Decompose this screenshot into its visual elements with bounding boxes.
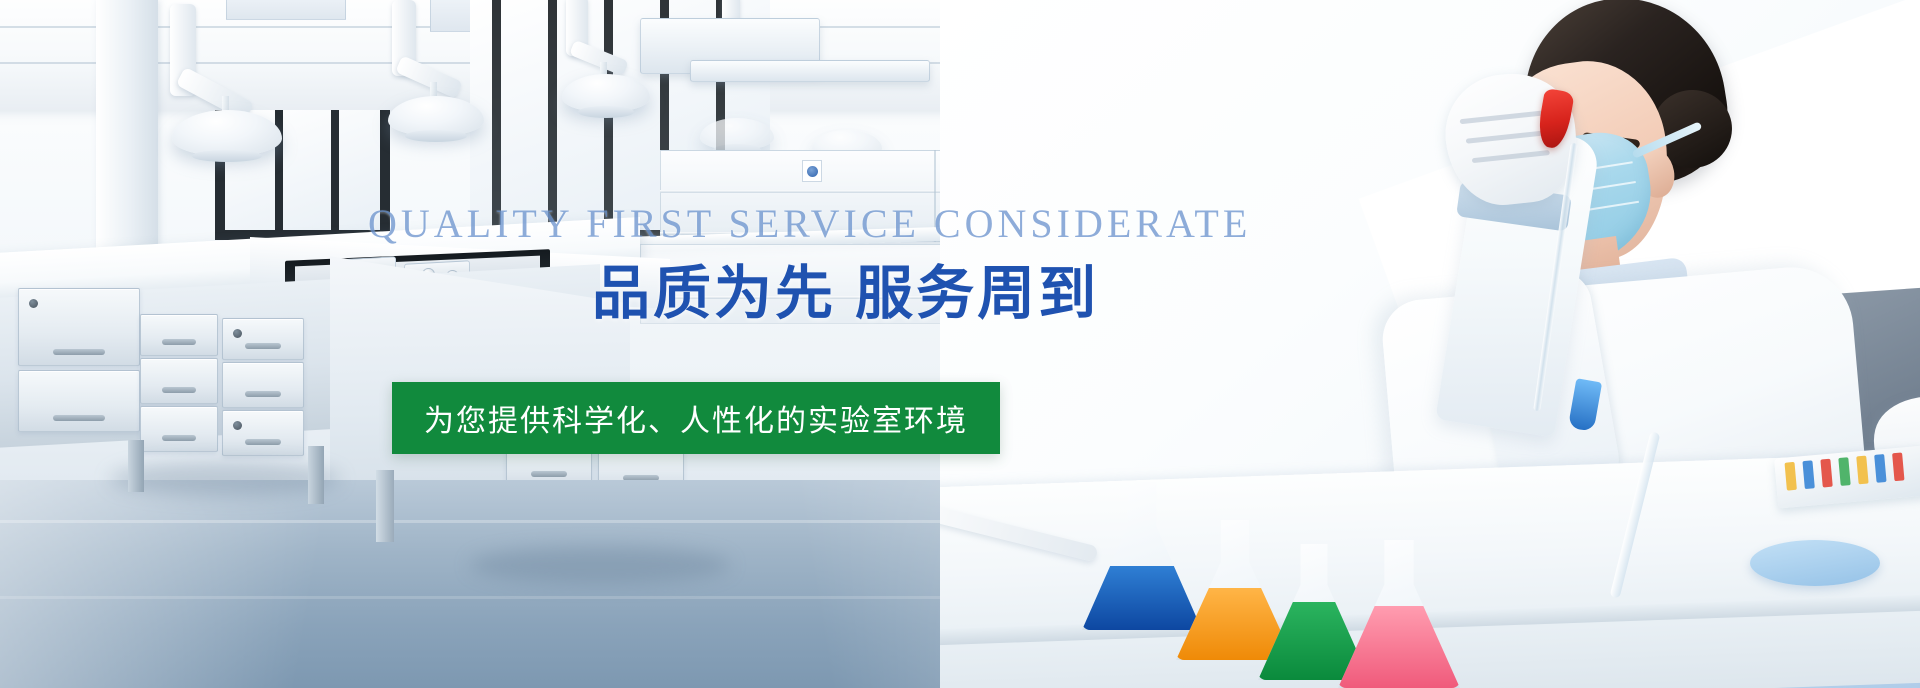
subtitle-green-bar: 为您提供科学化、人性化的实验室环境 [392,382,1000,454]
banner-text-block: QUALITY FIRST SERVICE CONSIDERATE 品质为先 服… [0,0,1920,688]
english-tagline: QUALITY FIRST SERVICE CONSIDERATE [368,200,1251,247]
headline-chinese: 品质为先 服务周到 [592,246,1099,330]
hero-banner: QUALITY FIRST SERVICE CONSIDERATE 品质为先 服… [0,0,1920,688]
subtitle-chinese: 为您提供科学化、人性化的实验室环境 [424,396,968,440]
